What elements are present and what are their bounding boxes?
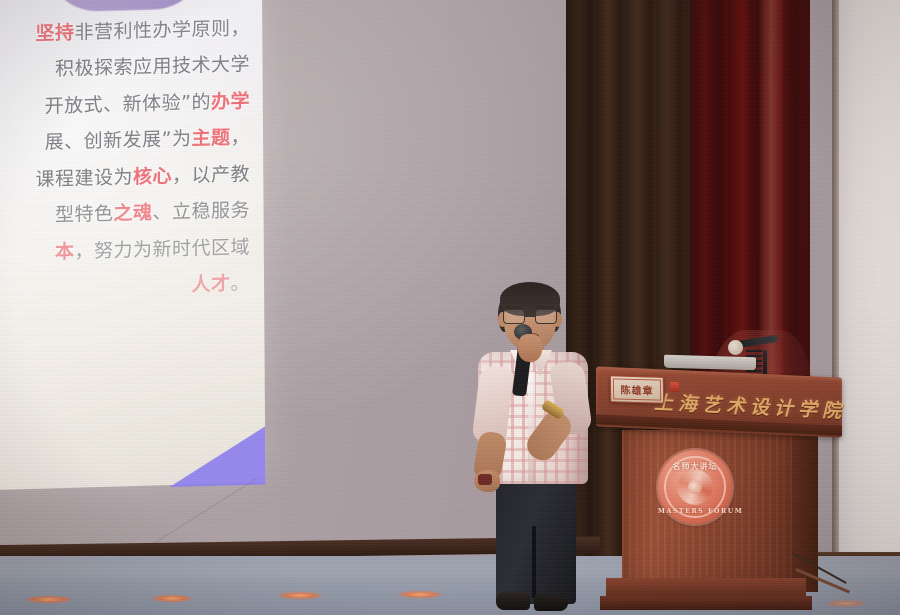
speaker-nameplate-text: 陈雄章 <box>613 378 661 400</box>
slide-line-6-tail: 、立稳服务 <box>152 200 250 225</box>
slide-line-2-text: 积极探索应用技术大学 <box>55 54 250 81</box>
eyeglass-lens-left <box>503 309 525 324</box>
slide-line-4-head: 展、创新发展”为 <box>45 128 192 154</box>
presenter-shoe-right <box>534 594 568 611</box>
slide-line-7-tail: ，努力为新时代区域 <box>74 236 250 263</box>
slide-line-8-highlight: 人才 <box>191 273 230 296</box>
presenter-shirt-placket <box>528 372 535 482</box>
floor-light-reflection <box>152 595 192 602</box>
slide-line-6-highlight: 之魂 <box>113 202 152 225</box>
eyeglass-lens-right <box>535 309 557 324</box>
podium-microphone-head-icon <box>728 340 743 355</box>
slide-line-8-tail: 。 <box>230 272 250 295</box>
slide-line-4-tail: ， <box>230 127 250 150</box>
slide-purple-header-shape <box>46 0 206 13</box>
eyeglass-bridge <box>525 315 535 317</box>
eyeglasses-icon <box>503 309 557 325</box>
slide-line-3-highlight: 办学 <box>211 90 250 113</box>
presenter-leg-seam <box>532 526 536 598</box>
floor-light-reflection <box>278 592 322 599</box>
slide-line-6-head: 型特色 <box>55 203 114 227</box>
speaker-podium: 名师大讲坛 MASTERS FORUM 上海艺术设计学院 陈雄章 <box>596 372 846 615</box>
floor-light-reflection <box>26 596 72 603</box>
slide-line-5-head: 课程建设为 <box>35 166 133 191</box>
slide-line-1-tail: 非营利性办学原则， <box>74 17 250 44</box>
floor-light-reflection <box>398 591 442 598</box>
podium-seal-logo: 名师大讲坛 MASTERS FORUM <box>658 450 732 524</box>
presenter-hand-right <box>518 334 542 362</box>
slide-line-7-head: 本 <box>55 241 75 264</box>
slide-line-3-head: 开放式、新体验”的 <box>45 91 211 117</box>
slide-line-5-tail: ，以产教 <box>172 163 250 187</box>
podium-base-lower <box>600 596 812 610</box>
slide-line-5-highlight: 核心 <box>133 165 172 188</box>
presentation-clicker <box>478 474 492 485</box>
slide-text-block: 坚持非营利性办学原则， 积极探索应用技术大学 开放式、新体验”的办学 展、创新发… <box>0 10 250 309</box>
slide-line-4-highlight: 主题 <box>191 127 230 150</box>
lecture-hall-photo: 坚持非营利性办学原则， 积极探索应用技术大学 开放式、新体验”的办学 展、创新发… <box>0 0 900 615</box>
speaker-nameplate: 陈雄章 <box>610 375 664 404</box>
laptop-on-podium <box>664 355 756 371</box>
presenter-shoe-left <box>496 592 530 610</box>
presenter <box>470 282 610 615</box>
seal-bottom-text: MASTERS FORUM <box>658 508 732 515</box>
seal-top-text: 名师大讲坛 <box>658 461 732 472</box>
presenter-trousers <box>496 478 576 604</box>
podium-red-cap-object <box>670 382 679 392</box>
slide-line-1-highlight: 坚持 <box>35 22 74 45</box>
